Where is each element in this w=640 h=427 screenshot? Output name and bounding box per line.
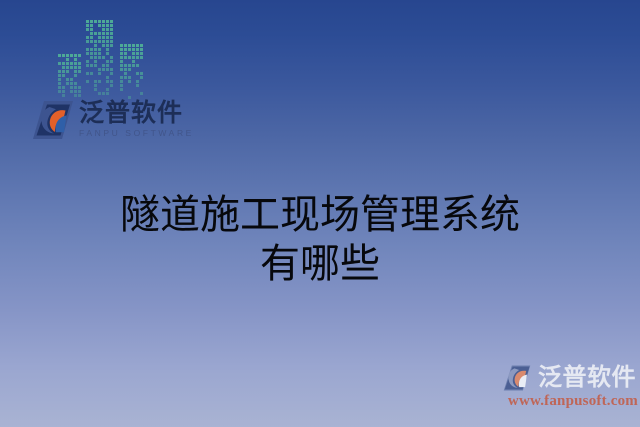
skyline-pixel [140, 72, 143, 75]
skyline-pixel [106, 80, 109, 83]
skyline-pixel [110, 72, 113, 75]
skyline-pixel [128, 68, 131, 71]
skyline-pixel [124, 68, 127, 71]
skyline-pixel [106, 92, 109, 95]
skyline-pixel [62, 62, 65, 65]
skyline-pixel [74, 62, 77, 65]
skyline-pixel [120, 52, 123, 55]
skyline-pixel [120, 88, 123, 91]
skyline-pixel [66, 66, 69, 69]
skyline-pixel [90, 48, 93, 51]
skyline-pixel [62, 94, 65, 97]
brand-name-cn: 泛普软件 [79, 100, 183, 127]
skyline-pixel [86, 64, 89, 67]
skyline-pixel [90, 56, 93, 59]
skyline-pixel [74, 94, 77, 97]
skyline-pixel [102, 20, 105, 23]
skyline-pixel [124, 56, 127, 59]
skyline-pixel [86, 40, 89, 43]
skyline-pixel [70, 82, 73, 85]
skyline-pixel [110, 32, 113, 35]
skyline-pixel [86, 72, 89, 75]
skyline-pixel [58, 70, 61, 73]
skyline-pixel [132, 52, 135, 55]
skyline-pixel [128, 80, 131, 83]
skyline-pixel [140, 56, 143, 59]
skyline-pixel [94, 44, 97, 47]
slide-canvas: 泛普软件 FANPU SOFTWARE 隧道施工现场管理系统 有哪些 泛普软件 … [0, 0, 640, 427]
skyline-pixel [94, 64, 97, 67]
skyline-pixel [102, 24, 105, 27]
skyline-pixel [98, 20, 101, 23]
page-title: 隧道施工现场管理系统 有哪些 [0, 190, 640, 288]
skyline-pixel [120, 80, 123, 83]
skyline-pixel [136, 56, 139, 59]
watermark-brand-name: 泛普软件 [538, 365, 636, 391]
skyline-pixel [90, 40, 93, 43]
skyline-pixel [98, 40, 101, 43]
skyline-pixel [66, 62, 69, 65]
skyline-pixel [66, 58, 69, 61]
page-title-line-2: 有哪些 [0, 239, 640, 288]
skyline-pixel [70, 86, 73, 89]
skyline-pixel [120, 84, 123, 87]
skyline-pixel [106, 52, 109, 55]
skyline-pixel [62, 70, 65, 73]
skyline-pixel [94, 20, 97, 23]
skyline-pixel [94, 32, 97, 35]
skyline-pixel [120, 56, 123, 59]
skyline-pixel [132, 60, 135, 63]
skyline-pixel [74, 82, 77, 85]
skyline-pixel [98, 72, 101, 75]
skyline-pixel [136, 84, 139, 87]
skyline-pixel [90, 20, 93, 23]
skyline-pixel [98, 48, 101, 51]
skyline-pixel [94, 60, 97, 63]
skyline-pixel [106, 28, 109, 31]
watermark: 泛普软件 www.fanpusoft.com [500, 364, 640, 420]
skyline-pixel [110, 36, 113, 39]
skyline-pixel [136, 52, 139, 55]
skyline-pixel [62, 86, 65, 89]
skyline-pixel [86, 36, 89, 39]
skyline-tower [86, 20, 116, 100]
skyline-pixel [124, 48, 127, 51]
brand-name-en: FANPU SOFTWARE [79, 128, 194, 139]
skyline-pixel [58, 86, 61, 89]
skyline-pixel [98, 68, 101, 71]
skyline-pixel [106, 32, 109, 35]
skyline-pixel [78, 70, 81, 73]
skyline-pixel [78, 86, 81, 89]
skyline-tower [120, 44, 146, 100]
skyline-pixel [128, 64, 131, 67]
watermark-url: www.fanpusoft.com [500, 393, 640, 410]
skyline-pixel [86, 20, 89, 23]
skyline-pixel [128, 44, 131, 47]
skyline-pixel [94, 88, 97, 91]
skyline-tower [58, 54, 82, 100]
skyline-pixel [94, 84, 97, 87]
skyline-pixel [70, 78, 73, 81]
skyline-pixel [74, 54, 77, 57]
skyline-pixel [102, 92, 105, 95]
skyline-pixel [98, 36, 101, 39]
skyline-pixel [74, 58, 77, 61]
skyline-pixel [124, 52, 127, 55]
skyline-pixel [110, 20, 113, 23]
skyline-pixel [106, 88, 109, 91]
skyline-pixel [66, 78, 69, 81]
skyline-pixel [78, 66, 81, 69]
skyline-pixel [106, 36, 109, 39]
fanpu-hexagon-logo-icon [500, 364, 534, 392]
skyline-pixel [102, 28, 105, 31]
skyline-pixel [78, 90, 81, 93]
skyline-pixel [102, 32, 105, 35]
skyline-pixel [62, 90, 65, 93]
skyline-pixel [86, 60, 89, 63]
skyline-pixel [62, 74, 65, 77]
skyline-pixel [90, 64, 93, 67]
skyline-pixel [110, 84, 113, 87]
skyline-pixel [58, 62, 61, 65]
skyline-pixel [86, 24, 89, 27]
skyline-pixel [58, 54, 61, 57]
skyline-pixel [74, 90, 77, 93]
skyline-pixel [78, 62, 81, 65]
skyline-pixel [106, 40, 109, 43]
skyline-pixel [110, 56, 113, 59]
skyline-pixel [132, 44, 135, 47]
skyline-pixel [94, 80, 97, 83]
skyline-pixel [140, 92, 143, 95]
skyline-pixel [70, 90, 73, 93]
skyline-pixel [86, 48, 89, 51]
brand-logo-text: 泛普软件 FANPU SOFTWARE [79, 100, 194, 139]
skyline-pixel [132, 56, 135, 59]
skyline-pixel [90, 28, 93, 31]
skyline-pixel [98, 56, 101, 59]
skyline-pixel [140, 76, 143, 79]
skyline-pixel [110, 44, 113, 47]
skyline-pixel [70, 54, 73, 57]
skyline-pixel [136, 48, 139, 51]
skyline-pixel [120, 44, 123, 47]
skyline-pixel [106, 24, 109, 27]
skyline-pixel [58, 90, 61, 93]
skyline-pixel [110, 28, 113, 31]
page-title-line-1: 隧道施工现场管理系统 [0, 190, 640, 239]
skyline-pixel [90, 36, 93, 39]
skyline-pixel [86, 80, 89, 83]
skyline-pixel [94, 56, 97, 59]
skyline-pixel [110, 80, 113, 83]
skyline-pixel [66, 70, 69, 73]
brand-logo: 泛普软件 FANPU SOFTWARE [33, 100, 194, 139]
skyline-pixel [124, 72, 127, 75]
skyline-pixel [66, 54, 69, 57]
skyline-pixel [106, 76, 109, 79]
skyline-pixel [136, 64, 139, 67]
skyline-pixel [124, 64, 127, 67]
skyline-pixel [74, 74, 77, 77]
skyline-pixel [132, 64, 135, 67]
skyline-pixel [124, 76, 127, 79]
skyline-pixel [106, 48, 109, 51]
skyline-pixel [102, 44, 105, 47]
skyline-pixel [110, 40, 113, 43]
skyline-pixel [98, 92, 101, 95]
skyline-pixel [86, 28, 89, 31]
skyline-pixel [120, 64, 123, 67]
skyline-pixel [128, 56, 131, 59]
skyline-pixel [74, 70, 77, 73]
skyline-pixel [102, 68, 105, 71]
skyline-pixel [78, 54, 81, 57]
skyline-pixel [120, 48, 123, 51]
skyline-pixel [90, 32, 93, 35]
skyline-pixel [106, 44, 109, 47]
skyline-pixel [110, 60, 113, 63]
skyline-pixel [70, 66, 73, 69]
skyline-pixel [98, 32, 101, 35]
skyline-pixel [94, 40, 97, 43]
skyline-pixel [78, 94, 81, 97]
skyline-pixel [90, 52, 93, 55]
skyline-pixel [106, 60, 109, 63]
skyline-pixel [106, 68, 109, 71]
skyline-pixel [58, 74, 61, 77]
skyline-pixel [74, 66, 77, 69]
skyline-pixel [132, 48, 135, 51]
skyline-pixel [110, 24, 113, 27]
skyline-pixel [98, 80, 101, 83]
skyline-pixel [140, 48, 143, 51]
watermark-brand-row: 泛普软件 [500, 364, 640, 392]
skyline-pixel [120, 60, 123, 63]
skyline-pixel [106, 20, 109, 23]
skyline-pixel [58, 82, 61, 85]
skyline-pixel [140, 52, 143, 55]
skyline-pixel [98, 24, 101, 27]
skyline-pixel [62, 66, 65, 69]
skyline-pixel [58, 78, 61, 81]
skyline-pixel [120, 68, 123, 71]
skyline-pixel [90, 24, 93, 27]
skyline-pixel [70, 62, 73, 65]
skyline-pixel [140, 44, 143, 47]
skyline-pixel [110, 68, 113, 71]
skyline-pixel [128, 48, 131, 51]
skyline-pixel [62, 54, 65, 57]
skyline-pixel [74, 86, 77, 89]
skyline-pixel [136, 80, 139, 83]
skyline-pixel [90, 72, 93, 75]
skyline-pixel [106, 64, 109, 67]
skyline-pixel [102, 64, 105, 67]
skyline-pixel [102, 40, 105, 43]
pixel-skyline-decoration [58, 20, 148, 100]
skyline-pixel [98, 52, 101, 55]
skyline-pixel [124, 44, 127, 47]
skyline-pixel [94, 48, 97, 51]
fanpu-hexagon-logo-icon [33, 101, 73, 139]
skyline-pixel [128, 76, 131, 79]
skyline-pixel [102, 56, 105, 59]
skyline-pixel [102, 36, 105, 39]
skyline-pixel [66, 82, 69, 85]
skyline-pixel [120, 76, 123, 79]
skyline-pixel [94, 52, 97, 55]
skyline-pixel [86, 52, 89, 55]
skyline-pixel [136, 44, 139, 47]
skyline-pixel [136, 72, 139, 75]
